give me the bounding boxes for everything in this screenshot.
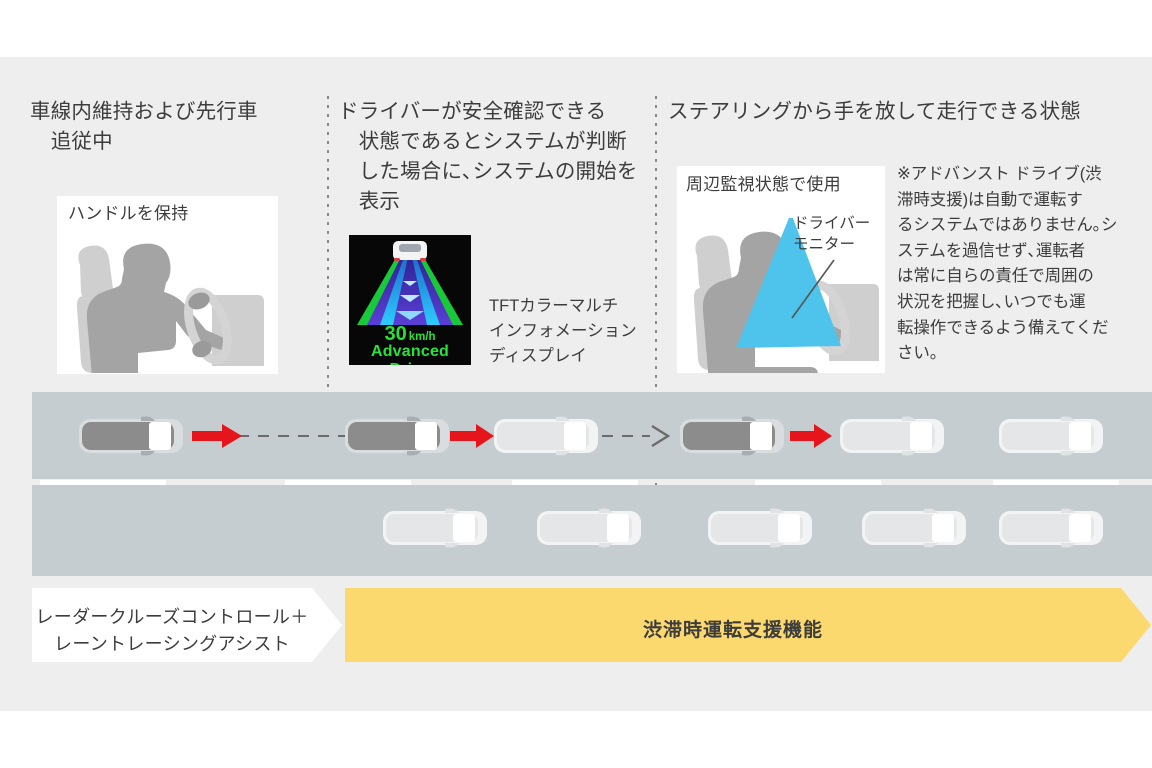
lane-dash	[512, 480, 638, 485]
traffic-car-lower-2	[533, 505, 645, 551]
ego-car-2	[341, 413, 453, 459]
banner-radar-cruise-label: レーダークルーズコントロール＋ レーントレーシングアシスト	[32, 604, 312, 658]
driver-monitor-leader-line	[790, 258, 836, 320]
column-2-heading: ドライバーが安全確認できる 状態であるとシステムが判断 した場合に､システムの開…	[338, 97, 648, 217]
advanced-drive-disclaimer: ※アドバンスト ドライブ(渋 滞時支援)は自動で運転す るシステムではありません…	[897, 162, 1139, 367]
tft-mode-label: Advanced Drive	[349, 343, 471, 365]
direction-arrow-1	[192, 423, 242, 449]
column-3-heading: ステアリングから手を放して走行できる状態	[668, 97, 1138, 127]
lane-view-display-icon	[349, 235, 471, 330]
traffic-car-lower-1	[379, 505, 491, 551]
tft-display-caption: TFTカラーマルチ インフォメーション ディスプレイ	[489, 294, 649, 369]
driver-hands-on-wheel-icon	[62, 233, 274, 373]
ego-car-3	[676, 413, 788, 459]
tft-display: 30km/h Advanced Drive	[349, 235, 471, 365]
column-1-card-title: ハンドルを保持	[68, 203, 268, 225]
merge-chevron-icon	[648, 424, 674, 448]
banner-traffic-jam-assist-label: 渋滞時運転支援機能	[345, 615, 1121, 642]
ego-car-1	[75, 413, 187, 459]
traffic-car-upper-3	[995, 413, 1107, 459]
lane-dash	[40, 480, 166, 485]
lane-dash	[755, 480, 881, 485]
lane-dash	[285, 480, 411, 485]
traffic-car-upper-2	[836, 413, 948, 459]
tft-speed-value: 30	[384, 323, 406, 345]
direction-arrow-3	[790, 423, 832, 449]
tft-speed-unit: km/h	[409, 331, 436, 343]
direction-arrow-2	[450, 423, 494, 449]
driver-monitor-annotation: ドライバー モニター	[793, 213, 898, 255]
traffic-car-lower-5	[995, 505, 1107, 551]
traffic-car-lower-4	[858, 505, 970, 551]
column-3-card-title: 周辺監視状態で使用	[686, 174, 876, 196]
traffic-car-lower-3	[704, 505, 816, 551]
column-1-heading: 車線内維持および先行車 追従中	[30, 97, 330, 157]
lane-dash	[993, 480, 1119, 485]
traffic-car-upper-1	[490, 413, 602, 459]
figure-root: 車線内維持および先行車 追従中 ドライバーが安全確認できる 状態であるとシステム…	[0, 0, 1152, 768]
